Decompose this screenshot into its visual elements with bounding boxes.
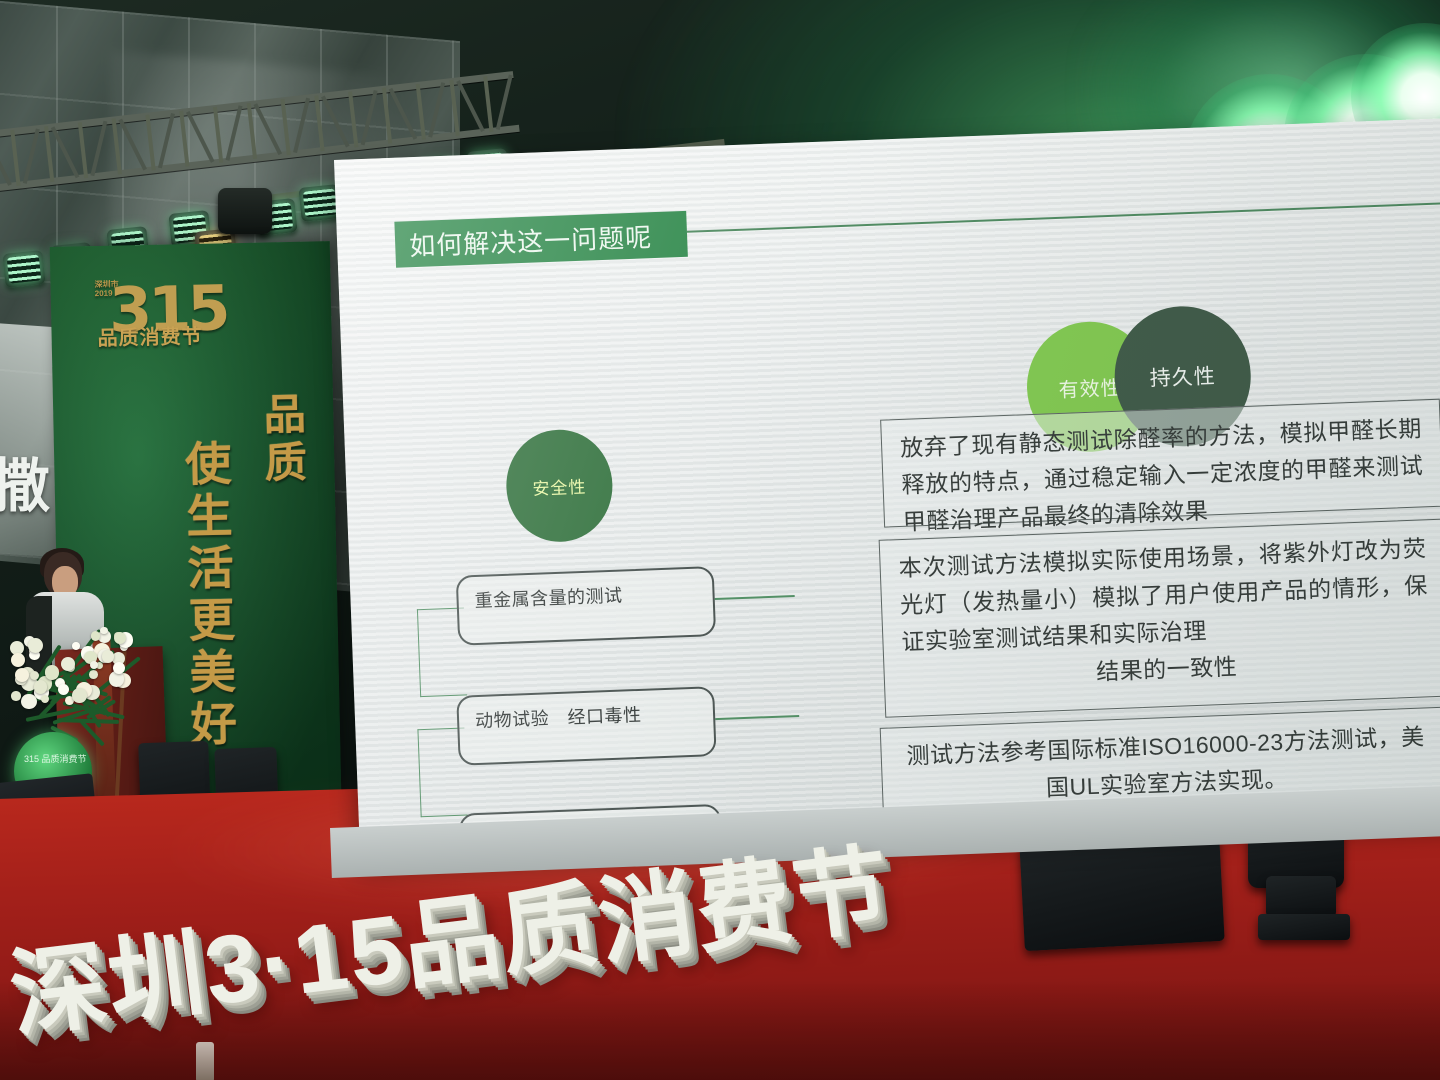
truss-vertical: [78, 122, 88, 178]
water-bottle: [196, 1042, 214, 1080]
flower: [21, 694, 36, 709]
backdrop-logo: 深圳市2019 315 品质消费节: [90, 266, 302, 380]
flower: [100, 627, 107, 634]
truss-vertical: [112, 118, 122, 174]
truss-vertical: [213, 107, 223, 163]
truss-diagonal: [158, 113, 175, 168]
truss-vertical: [483, 76, 493, 132]
truss-vertical: [449, 80, 459, 136]
backdrop-vertical-text-right: 品质: [251, 392, 314, 489]
par-can-lens: [303, 188, 338, 217]
moving-head-base: [1258, 914, 1350, 940]
flower: [72, 688, 87, 703]
par-can-lens: [7, 254, 42, 283]
truss-diagonal: [496, 75, 513, 130]
flower: [102, 650, 115, 663]
truss-diagonal: [51, 126, 80, 178]
truss-diagonal: [293, 98, 310, 153]
truss-vertical: [44, 126, 54, 182]
slide-title-banner: 如何解决这一问题呢: [394, 211, 688, 268]
truss-diagonal: [428, 82, 445, 137]
truss-vertical: [314, 95, 324, 151]
flower: [45, 665, 60, 680]
flower: [28, 638, 43, 653]
flower: [58, 684, 69, 695]
par-can-light: [2, 250, 45, 288]
truss-diagonal: [456, 80, 485, 132]
method-panel-1: 放弃了现有静态测试除醛率的方法，模拟甲醛长期释放的特点，通过稳定输入一定浓度的甲…: [880, 399, 1440, 528]
truss-vertical: [179, 111, 189, 167]
truss-diagonal: [361, 90, 378, 145]
slide-title-rule: [687, 202, 1440, 233]
circle-durability-label: 持久性: [1149, 360, 1216, 392]
connector-stub-1: [715, 595, 795, 600]
truss-vertical: [382, 88, 392, 144]
flower: [90, 661, 98, 669]
truss-vertical: [348, 91, 358, 147]
truss-diagonal: [186, 111, 215, 163]
truss-vertical: [247, 103, 257, 159]
truss-diagonal: [118, 119, 147, 171]
flower: [91, 631, 100, 640]
truss-diagonal: [0, 134, 12, 186]
test-item-label-1: 重金属含量的测试: [474, 579, 697, 615]
moving-head-yoke: [1266, 876, 1336, 918]
podium-emblem-text: 315 品质消费节: [24, 754, 87, 765]
flower: [15, 668, 29, 682]
truss-diagonal: [389, 88, 418, 140]
backdrop-vertical-text-left: 使生活更美好: [172, 439, 245, 752]
flower: [89, 670, 98, 679]
partial-white-character: 撒: [0, 452, 62, 526]
flower: [41, 695, 49, 703]
circle-effectiveness-label: 有效性: [1058, 371, 1122, 402]
flower: [11, 653, 25, 667]
flower: [72, 642, 79, 649]
truss-diagonal: [254, 103, 283, 155]
circle-safety: 安全性: [504, 428, 614, 544]
presentation-screen: 如何解决这一问题呢 安全性 有效性 持久性 重金属含量的测试 动物试验 经口毒性…: [334, 118, 1440, 860]
truss-diagonal: [226, 105, 243, 160]
truss-diagonal: [23, 128, 40, 183]
method-panel-2-text: 本次测试方法模拟实际使用场景，将紫外灯改为荧光灯（发热量小）模拟了用户使用产品的…: [898, 530, 1430, 661]
truss-vertical: [10, 130, 20, 186]
flower: [11, 691, 20, 700]
connector-stub-2: [715, 715, 799, 720]
slide-title: 如何解决这一问题呢: [409, 217, 653, 263]
truss-diagonal: [90, 121, 107, 176]
truss-moving-head: [218, 188, 272, 234]
flower: [61, 657, 75, 671]
test-item-label-2: 动物试验 经口毒性: [475, 699, 698, 735]
test-item-box-2: 动物试验 经口毒性: [456, 686, 716, 766]
truss-diagonal: [321, 96, 350, 148]
truss-vertical: [416, 84, 426, 140]
stage-scene: 深圳市2019 315 品质消费节 品质 使生活更美好 撒 315 品质消费节 …: [0, 0, 1440, 1080]
circle-safety-label: 安全性: [532, 472, 587, 499]
podium-flower-arrangement: [6, 620, 136, 730]
truss-vertical: [145, 115, 155, 171]
backdrop-logo-subtitle: 品质消费节: [97, 320, 203, 351]
test-item-box-1: 重金属含量的测试: [456, 566, 716, 646]
method-panel-2: 本次测试方法模拟实际使用场景，将紫外灯改为荧光灯（发热量小）模拟了用户使用产品的…: [879, 519, 1440, 718]
truss-vertical: [281, 99, 291, 155]
